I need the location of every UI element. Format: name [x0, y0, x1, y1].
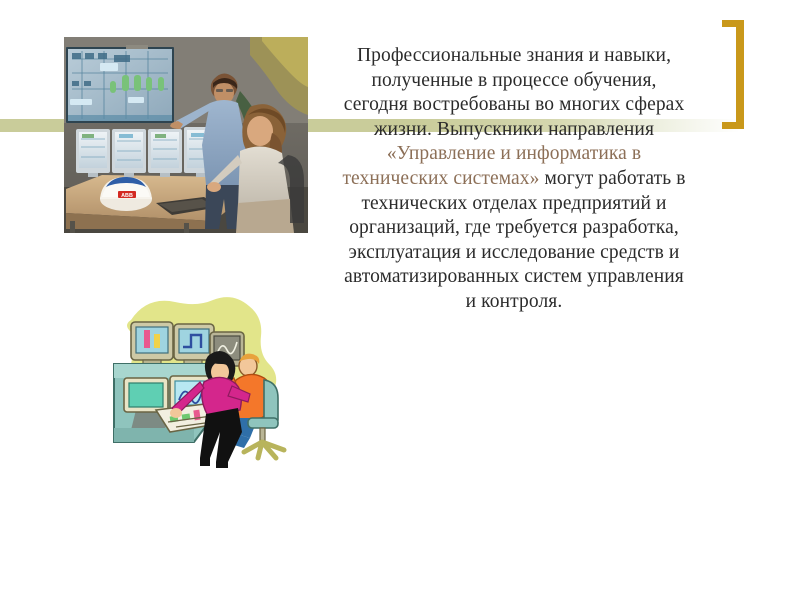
- slide-canvas: { "slide": { "background_color": "#fffff…: [0, 0, 800, 600]
- control-room-clipart: [98, 292, 294, 468]
- text-part-1: Профессиональные знания и навыки, получе…: [344, 45, 685, 140]
- control-room-photo: ABB: [64, 37, 308, 233]
- gold-bracket-icon: [722, 20, 744, 129]
- slide-body-text: Профессиональные знания и навыки, получе…: [338, 44, 690, 315]
- body-paragraph: Профессиональные знания и навыки, получе…: [338, 44, 690, 315]
- svg-text:ABB: ABB: [121, 193, 133, 199]
- text-part-2: могут работать в технических отделах пре…: [344, 168, 685, 312]
